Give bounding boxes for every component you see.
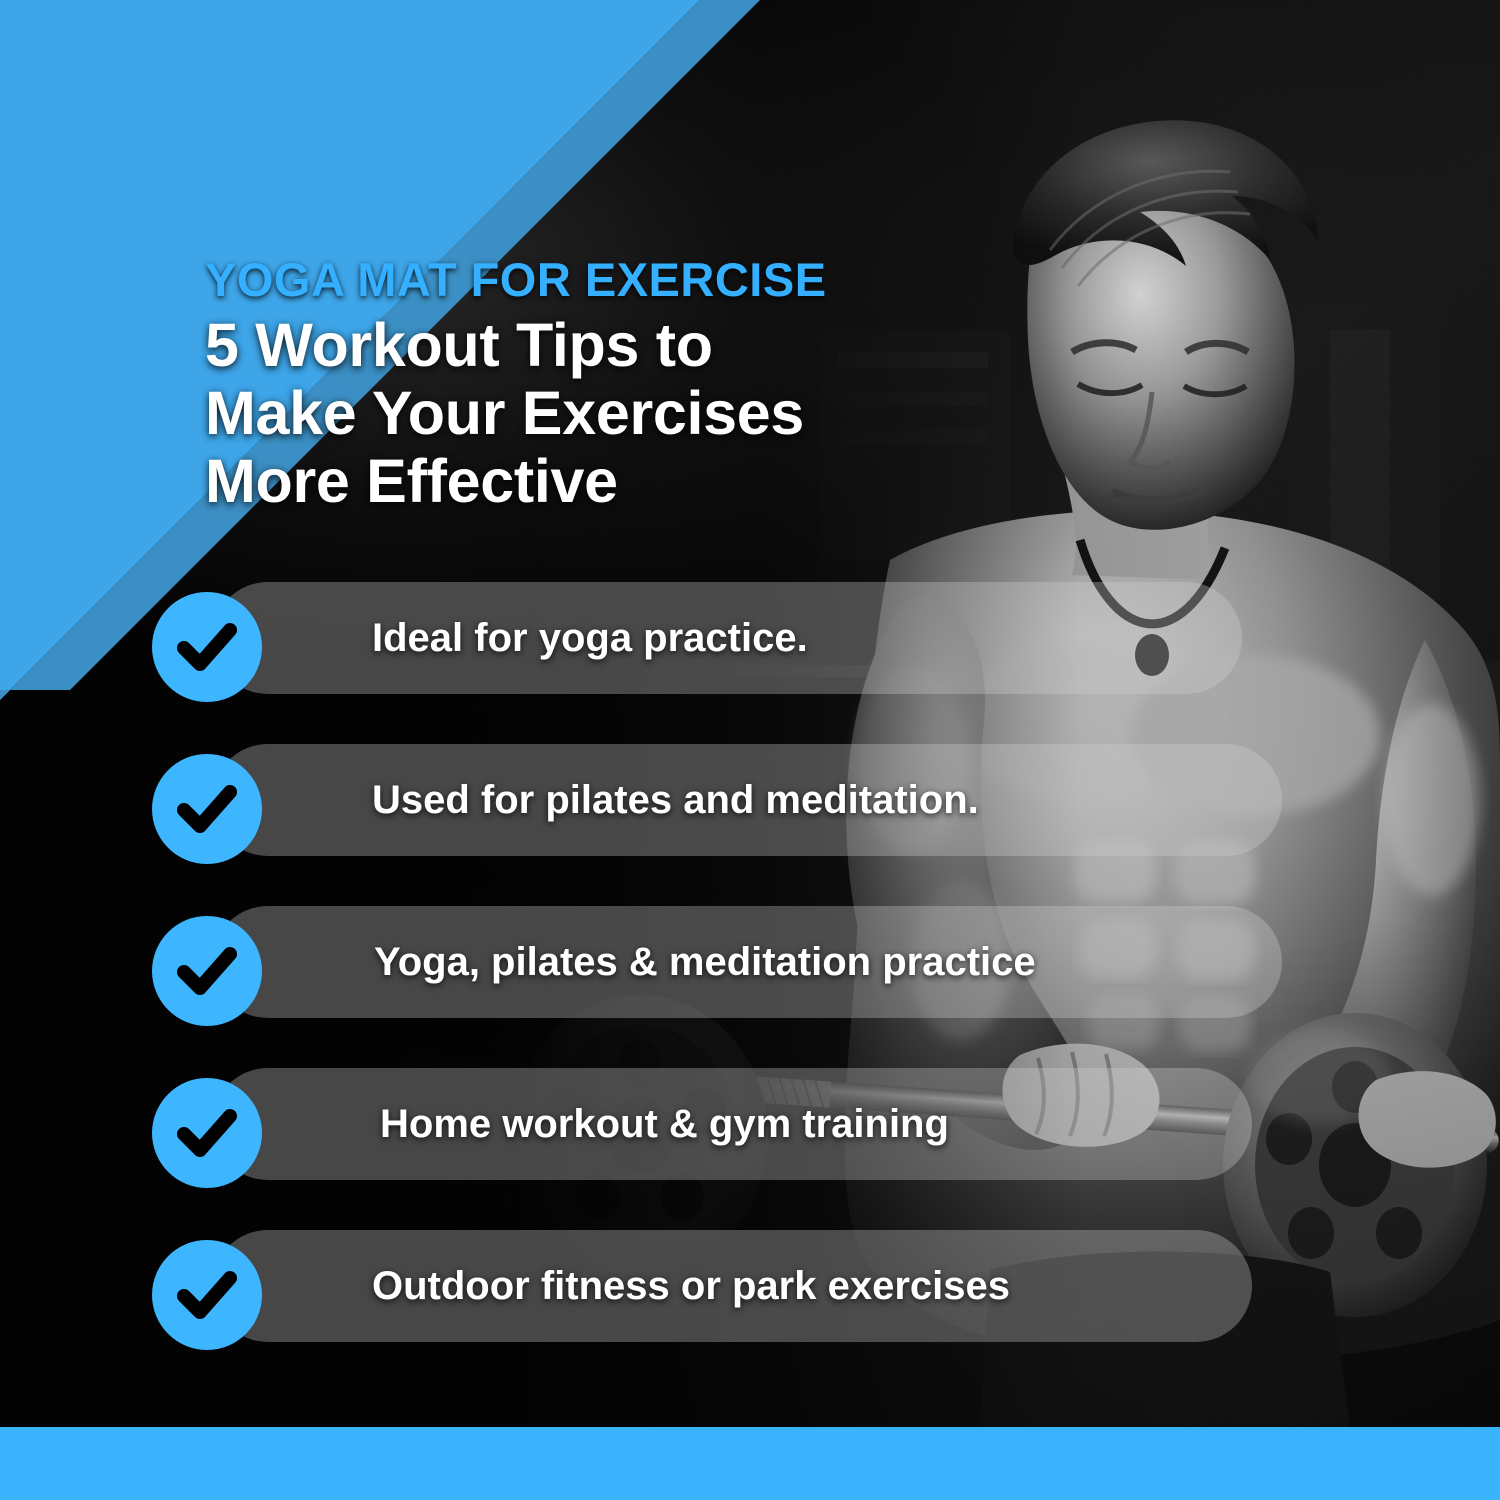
checklist-item-label: Used for pilates and meditation.	[372, 778, 979, 823]
checklist-pill: Home workout & gym training	[212, 1068, 1252, 1180]
check-icon	[152, 592, 262, 702]
check-icon	[152, 754, 262, 864]
check-icon	[152, 916, 262, 1026]
benefits-checklist: Ideal for yoga practice.Used for pilates…	[0, 0, 1500, 1500]
checklist-pill: Used for pilates and meditation.	[212, 744, 1282, 856]
checklist-item-label: Home workout & gym training	[380, 1102, 949, 1147]
checklist-pill: Outdoor fitness or park exercises	[212, 1230, 1252, 1342]
checklist-item-label: Ideal for yoga practice.	[372, 616, 808, 661]
checklist-item-label: Outdoor fitness or park exercises	[372, 1264, 1010, 1309]
checklist-pill: Ideal for yoga practice.	[212, 582, 1242, 694]
check-icon	[152, 1078, 262, 1188]
blue-footer-bar	[0, 1427, 1500, 1500]
check-icon	[152, 1240, 262, 1350]
infographic-poster: YOGA MAT FOR EXERCISE 5 Workout Tips to …	[0, 0, 1500, 1500]
checklist-pill: Yoga, pilates & meditation practice	[212, 906, 1282, 1018]
checklist-item-label: Yoga, pilates & meditation practice	[374, 940, 1036, 985]
